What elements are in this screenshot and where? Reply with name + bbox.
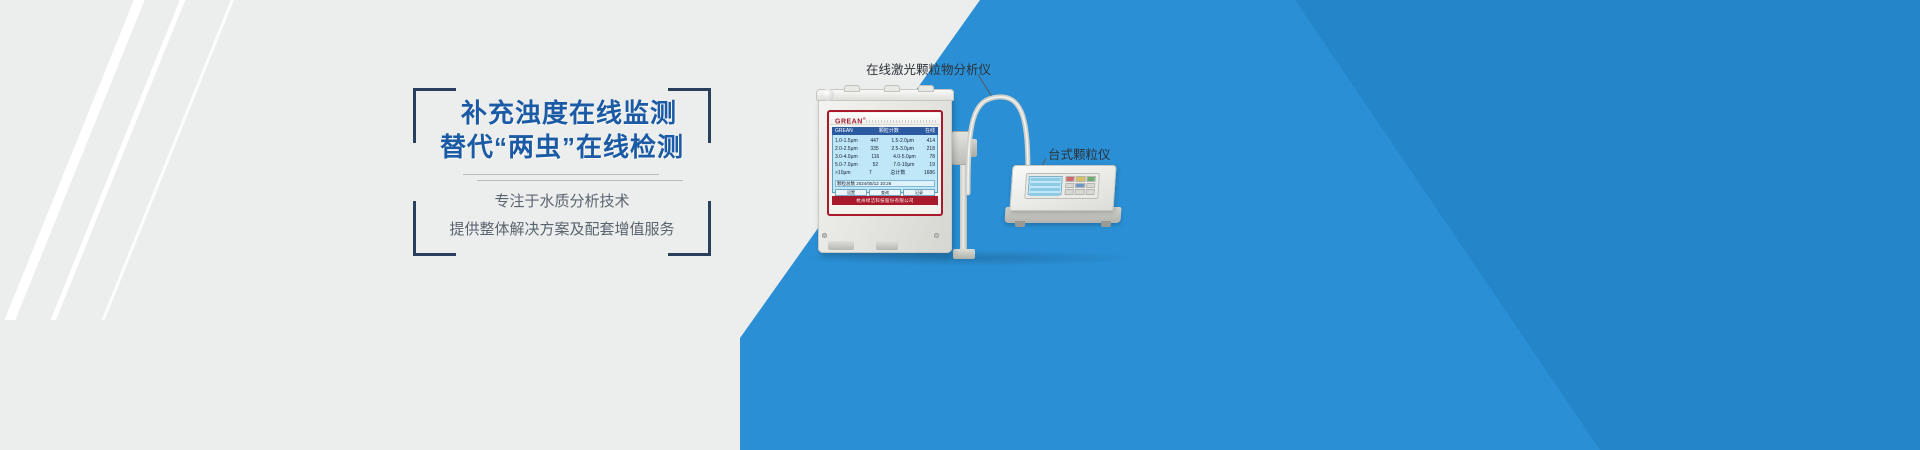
subtitle-group: 专注于水质分析技术 提供整体解决方案及配套增值服务	[413, 188, 711, 244]
analyzer-footer-bar: 杭州绿洁科技股份有限公司	[832, 196, 938, 205]
analyzer-cable-gland	[828, 241, 854, 250]
analyzer-screw	[934, 233, 939, 238]
lcd-title-center: 颗粒计数	[879, 127, 899, 135]
subtitle-line-2: 提供整体解决方案及配套增值服务	[413, 216, 711, 244]
bench-foot	[1101, 221, 1111, 227]
lcd-title-left: GREAN	[835, 127, 853, 135]
lcd-cell: 218	[927, 145, 935, 153]
lcd-readout-rows: 1.0-1.5μm 447 1.5-2.0μm 414 2.0-2.5μm 33…	[832, 135, 938, 179]
lcd-cell: 19	[929, 161, 935, 169]
headline-block: 补充浊度在线监测 替代“两虫”在线检测 专注于水质分析技术 提供整体解决方案及配…	[413, 88, 711, 256]
brand-logo: GREAN®	[835, 116, 866, 125]
bench-housing	[1009, 165, 1116, 211]
bench-display[interactable]	[1028, 176, 1063, 195]
lcd-cell: 335	[870, 145, 878, 153]
lcd-cell: 1686	[924, 169, 935, 177]
lcd-button[interactable]: 查询	[869, 189, 901, 196]
bench-key[interactable]	[1065, 176, 1075, 182]
analyzer-latch	[844, 85, 860, 92]
lcd-cell: >10μm	[835, 169, 851, 177]
lcd-cell: 1.0-1.5μm	[835, 137, 858, 145]
lcd-cell: 4.0-5.0μm	[893, 153, 916, 161]
bench-key[interactable]	[1076, 176, 1086, 182]
bench-keypad[interactable]	[1065, 176, 1096, 195]
bench-key[interactable]	[1065, 183, 1075, 189]
benchtop-particle-counter	[1005, 165, 1123, 245]
callout-label-benchtop-counter: 台式颗粒仪	[1048, 144, 1111, 163]
analyzer-knob	[822, 89, 834, 101]
lcd-row: 1.0-1.5μm 447 1.5-2.0μm 414	[835, 137, 935, 145]
analyzer-front-panel: GREAN® GREAN 颗粒计数 在线 1.0-1.5μm 447 1.5-2…	[827, 110, 943, 216]
brand-name: GREAN	[835, 118, 863, 125]
lcd-cell: 5.0-7.0μm	[835, 161, 858, 169]
lcd-cell: 总计数	[890, 169, 905, 177]
divider-group	[441, 174, 686, 181]
lcd-cell: 7	[869, 169, 872, 177]
product-banner: 补充浊度在线监测 替代“两虫”在线检测 专注于水质分析技术 提供整体解决方案及配…	[0, 0, 1920, 450]
lcd-cell: 78	[929, 153, 935, 161]
lcd-cell: 52	[873, 161, 879, 169]
lcd-row: 3.0-4.0μm 116 4.0-5.0μm 78	[835, 153, 935, 161]
lcd-title-bar: GREAN 颗粒计数 在线	[832, 127, 938, 135]
lcd-title-right: 在线	[925, 127, 935, 135]
lcd-cell: 2.0-2.5μm	[835, 145, 858, 153]
bench-key[interactable]	[1075, 189, 1085, 195]
analyzer-latch	[884, 85, 900, 92]
callout-label-online-analyzer: 在线激光颗粒物分析仪	[866, 59, 991, 78]
analyzer-cable-gland	[876, 241, 898, 250]
bench-control-panel	[1024, 173, 1100, 199]
analyzer-screw	[822, 233, 827, 238]
lcd-cell: 7.0-10μm	[893, 161, 914, 169]
lcd-cell: 414	[927, 137, 935, 145]
bench-key[interactable]	[1075, 183, 1085, 189]
bench-key[interactable]	[1086, 176, 1096, 182]
analyzer-brand-bar: GREAN®	[830, 113, 940, 125]
bench-foot	[1015, 221, 1025, 227]
lcd-button-row: 设置 查询 记录	[835, 189, 935, 196]
lcd-cell: 447	[870, 137, 878, 145]
lcd-row: >10μm 7 总计数 1686	[835, 169, 935, 177]
online-laser-particle-analyzer: GREAN® GREAN 颗粒计数 在线 1.0-1.5μm 447 1.5-2…	[810, 83, 960, 261]
subtitle-line-1: 专注于水质分析技术	[413, 188, 711, 216]
lcd-button[interactable]: 设置	[835, 189, 867, 196]
lcd-cell: 116	[871, 153, 879, 161]
lcd-row: 2.0-2.5μm 335 2.5-3.0μm 218	[835, 145, 935, 153]
analyzer-stem-foot	[953, 249, 975, 259]
headline-line-2: 替代“两虫”在线检测	[413, 130, 711, 164]
headline: 补充浊度在线监测 替代“两虫”在线检测	[413, 96, 711, 164]
bench-key[interactable]	[1086, 183, 1096, 189]
divider-line-bottom	[477, 180, 683, 181]
divider-line-top	[463, 174, 659, 175]
lcd-row: 5.0-7.0μm 52 7.0-10μm 19	[835, 161, 935, 169]
lcd-status-strip: 颗粒总数 2024/05/12 10:26	[835, 180, 935, 187]
lcd-cell: 3.0-4.0μm	[835, 153, 858, 161]
analyzer-lcd-screen[interactable]: GREAN 颗粒计数 在线 1.0-1.5μm 447 1.5-2.0μm 41…	[832, 127, 938, 193]
bench-key[interactable]	[1085, 189, 1095, 195]
lcd-button[interactable]: 记录	[903, 189, 935, 196]
headline-line-1: 补充浊度在线监测	[413, 96, 711, 130]
analyzer-latch	[918, 85, 934, 92]
brand-hatch	[866, 120, 936, 123]
bench-key[interactable]	[1065, 189, 1075, 195]
lcd-cell: 2.5-3.0μm	[891, 145, 914, 153]
lcd-cell: 1.5-2.0μm	[891, 137, 914, 145]
